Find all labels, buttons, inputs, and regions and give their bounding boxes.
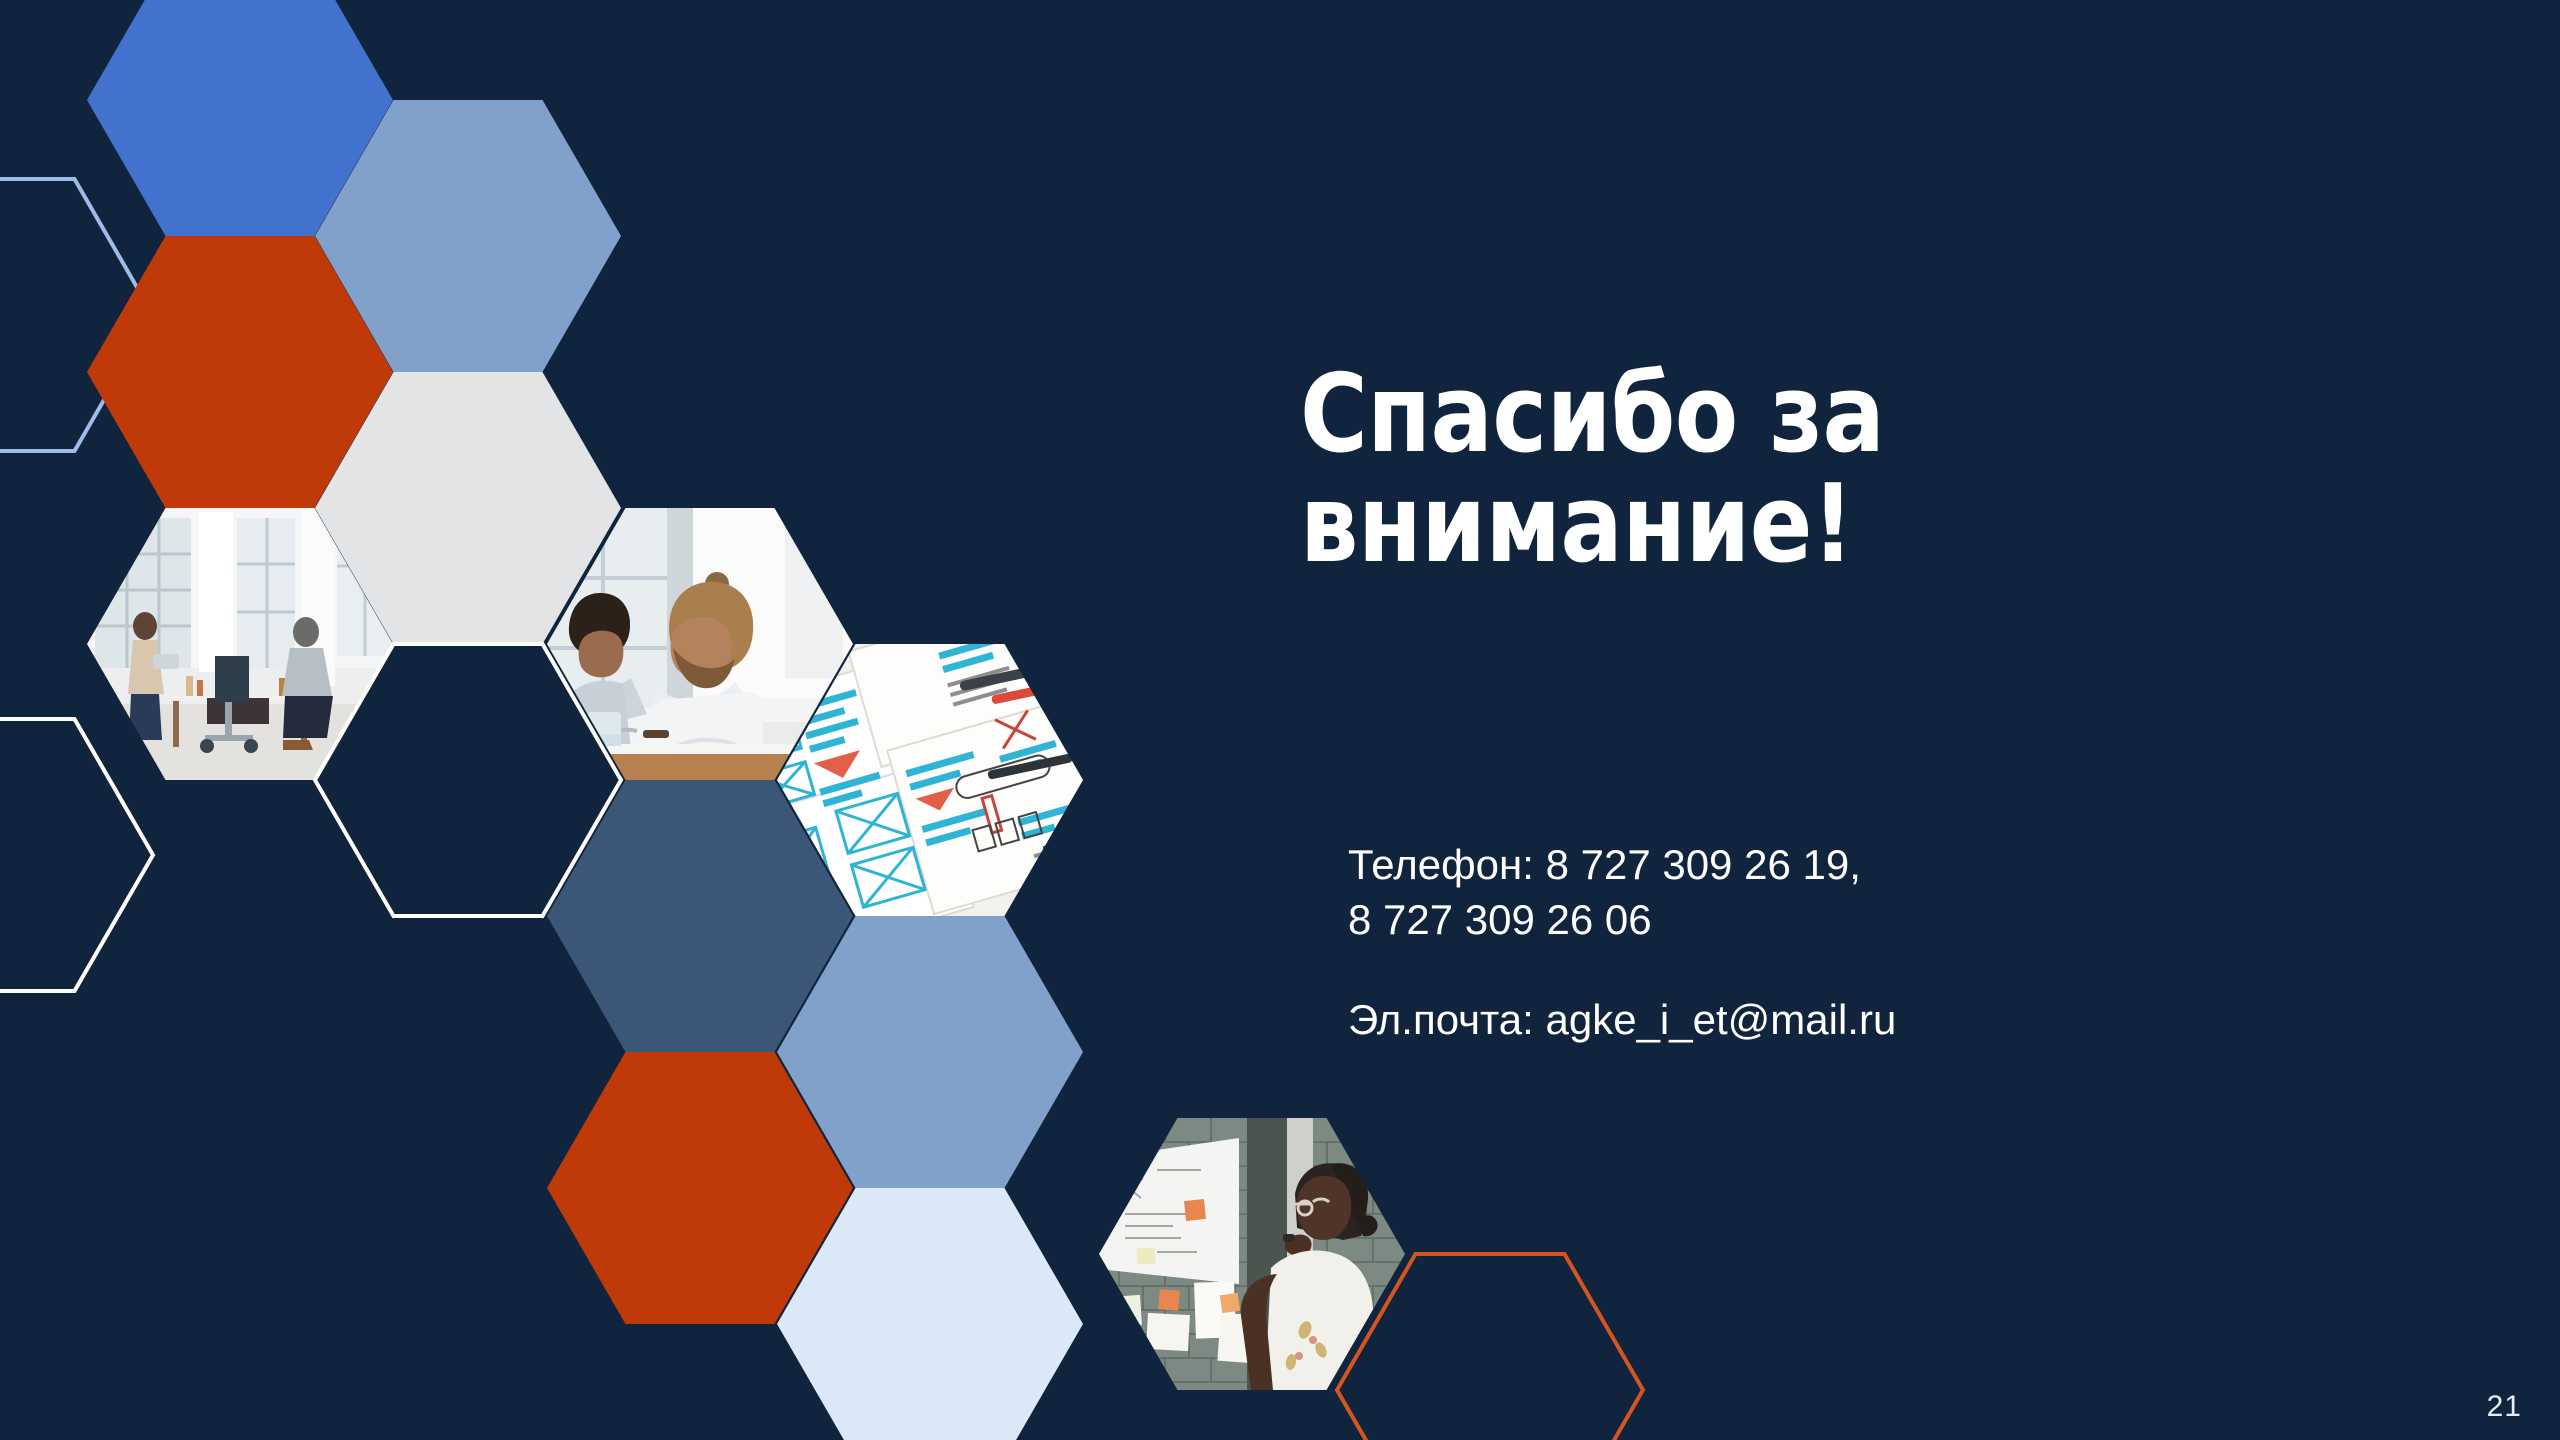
slide-canvas: Спасибо за внимание! Телефон: 8 727 309 …: [0, 0, 2560, 1440]
slide-number: 21: [2487, 1390, 2522, 1424]
phone-line-1: Телефон: 8 727 309 26 19,: [1348, 838, 2408, 893]
hexagon-mosaic-decoration: [0, 0, 2560, 1440]
headline-block: Спасибо за внимание!: [1300, 360, 2400, 580]
phone-line-2: 8 727 309 26 06: [1348, 893, 2408, 948]
email-line: Эл.почта: agke_i_et@mail.ru: [1348, 993, 2408, 1048]
page-title: Спасибо за внимание!: [1300, 360, 2345, 580]
contact-block: Телефон: 8 727 309 26 19, 8 727 309 26 0…: [1348, 838, 2408, 1048]
contact-spacer: [1348, 947, 2408, 993]
hex-outline-left-lower: [0, 719, 153, 991]
